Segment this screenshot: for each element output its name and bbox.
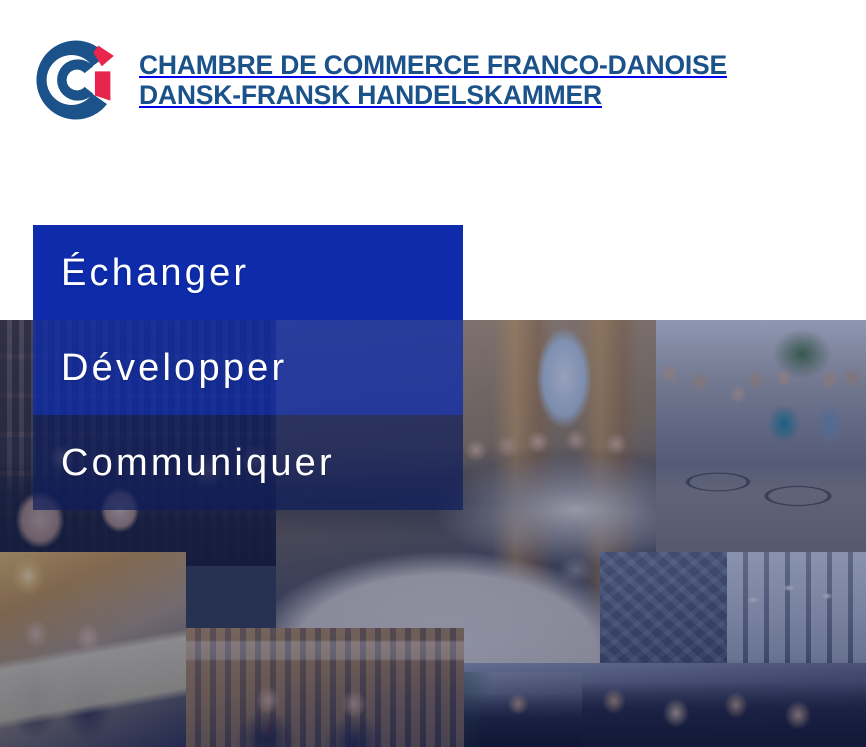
slogan-band-communiquer: Communiquer (33, 415, 463, 510)
photo-tint-overlay (600, 552, 730, 670)
slogan-label-developper: Développer (61, 349, 287, 387)
site-header: CHAMBRE DE COMMERCE FRANCO-DANOISE DANSK… (0, 0, 866, 160)
wordmark-line-dk: DANSK-FRANSK HANDELSKAMMER (139, 81, 727, 111)
collage-tile-patterned-carpet (600, 552, 730, 670)
collage-tile-petanque-networking (656, 320, 866, 552)
wordmark-line-fr: CHAMBRE DE COMMERCE FRANCO-DANOISE (139, 51, 727, 81)
landing-page: CHAMBRE DE COMMERCE FRANCO-DANOISE DANSK… (0, 0, 866, 747)
cci-logo-mark (33, 37, 119, 123)
logo-inner-arc (57, 59, 93, 100)
collage-tile-gallery-tapestry-talk (186, 628, 464, 747)
photo-tint-overlay (656, 320, 866, 552)
slogan-panel: Échanger Développer Communiquer (33, 225, 463, 510)
logo-wordmark: CHAMBRE DE COMMERCE FRANCO-DANOISE DANSK… (139, 49, 727, 111)
logo-red-stem (95, 71, 110, 100)
slogan-label-echanger: Échanger (61, 254, 249, 292)
site-logo-link[interactable]: CHAMBRE DE COMMERCE FRANCO-DANOISE DANSK… (33, 37, 727, 123)
slogan-band-developper: Développer (33, 320, 463, 415)
photo-tint-overlay (186, 628, 464, 747)
photo-tint-overlay (0, 552, 186, 747)
collage-tile-award-ceremony (0, 552, 186, 747)
slogan-band-echanger: Échanger (33, 225, 463, 320)
slogan-label-communiquer: Communiquer (61, 444, 335, 482)
